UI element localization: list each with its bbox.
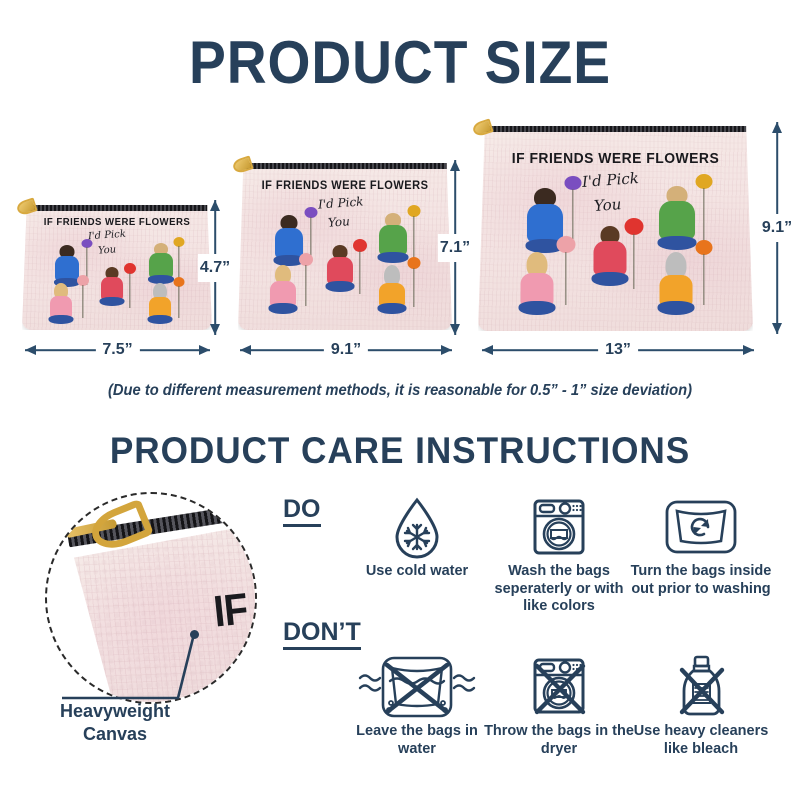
size-deviation-disclaimer: (Due to different measurement methods, i… (20, 382, 780, 400)
flower-stem (129, 273, 130, 308)
flower-stem (413, 268, 414, 307)
flower-sunflower (406, 205, 422, 263)
product-bag-large: IF FRIENDS WERE FLOWERS I'd Pick You (478, 126, 753, 331)
bag-headline-text: IF FRIENDS WERE FLOWERS (26, 217, 208, 228)
care-dont-heading: DON’T (283, 620, 361, 650)
care-do-heading: DO (283, 497, 321, 527)
figure-red (592, 226, 628, 290)
figure-shirt (379, 225, 407, 255)
figure-base (378, 303, 407, 314)
figure-base (592, 272, 629, 286)
figure-pink (519, 252, 555, 316)
fabric-label-line1: Heavyweight (40, 700, 190, 723)
flower-stem (703, 254, 704, 305)
turn-inside-out-icon (626, 495, 776, 559)
zipper-teeth (238, 163, 452, 169)
flower-head (696, 240, 713, 255)
figure-orange (148, 283, 172, 325)
dimension-height-label: 7.1” (438, 234, 472, 262)
zipper-teeth (22, 205, 212, 211)
product-bag-small: IF FRIENDS WERE FLOWERS I'd Pick You (22, 205, 212, 330)
flower-head (696, 174, 713, 189)
figure-base (519, 301, 556, 315)
arrowhead-top-icon (772, 122, 782, 133)
care-item-no-bleach: Use heavy cleaners like bleach (626, 655, 776, 758)
figure-green (378, 213, 408, 265)
page-title-product-size: PRODUCT SIZE (32, 28, 768, 97)
arrowhead-top-icon (210, 200, 220, 211)
flower-stem (82, 285, 83, 318)
figure-base (269, 303, 298, 314)
dimension-height-large: 9.1” (762, 122, 792, 334)
care-item-label: Turn the bags inside out prior to washin… (626, 563, 776, 598)
arrowhead-left-icon (25, 345, 36, 355)
zipper-teeth (478, 126, 753, 132)
care-item-cold-water: Use cold water (342, 495, 492, 581)
flower-head (565, 176, 582, 190)
dimension-height-small: 4.7” (200, 200, 230, 335)
arrowhead-top-icon (450, 160, 460, 171)
infographic-page: PRODUCT SIZE IF FRIENDS WERE FLOWERS I'd… (0, 0, 800, 800)
figure-base (658, 236, 697, 250)
flower-poppy (123, 263, 137, 309)
cold-water-icon (342, 495, 492, 559)
flower-poppy (624, 218, 644, 290)
flower-stem (178, 286, 179, 318)
care-item-turn-inside-out: Turn the bags inside out prior to washin… (626, 495, 776, 598)
bag-headline-text: IF FRIENDS WERE FLOWERS (242, 180, 447, 192)
dimension-width-label: 7.5” (95, 341, 139, 359)
flower-head (557, 236, 576, 253)
care-item-no-dryer: Throw the bags in the dryer (484, 655, 634, 758)
flower-stem (413, 216, 414, 262)
arrowhead-right-icon (743, 345, 754, 355)
figure-base (100, 297, 125, 306)
no-dryer-icon (484, 655, 634, 719)
arrowhead-bottom-icon (772, 323, 782, 334)
figure-base (49, 315, 74, 324)
figure-pink (49, 283, 73, 325)
flower-stem (633, 234, 634, 289)
figure-base (326, 281, 355, 292)
figure-pink (269, 265, 297, 315)
figure-red (100, 267, 124, 309)
fabric-detail-label: Heavyweight Canvas (40, 700, 190, 745)
flower-head (625, 218, 644, 235)
figure-base (658, 301, 695, 315)
figure-orange (658, 252, 694, 316)
callout-anchor-dot (190, 630, 199, 639)
flower-marigold (694, 240, 714, 308)
care-item-label: Leave the bags in water (342, 723, 492, 758)
section-title-care-instructions: PRODUCT CARE INSTRUCTIONS (20, 430, 780, 472)
washing-machine-icon (484, 495, 634, 559)
care-item-label: Use cold water (342, 563, 492, 581)
dimension-width-label: 9.1” (324, 341, 368, 359)
figure-shirt (594, 241, 627, 275)
figure-green (658, 186, 696, 252)
bag-canvas-body: IF FRIENDS WERE FLOWERS I'd Pick You (238, 163, 452, 330)
arrowhead-right-icon (199, 345, 210, 355)
dimension-height-medium: 7.1” (440, 160, 470, 335)
fabric-label-line2: Canvas (40, 723, 190, 746)
care-item-label: Throw the bags in the dryer (484, 723, 634, 758)
figure-shirt (659, 201, 695, 239)
care-item-label: Use heavy cleaners like bleach (626, 723, 776, 758)
product-bag-medium: IF FRIENDS WERE FLOWERS I'd Pick You (238, 163, 452, 330)
figure-red (326, 245, 354, 295)
figure-green (148, 243, 174, 287)
dimension-width-large: 13” (482, 341, 754, 359)
figure-shirt (327, 257, 353, 284)
flower-stem (565, 252, 566, 305)
bag-canvas-body: IF FRIENDS WERE FLOWERS I'd Pick You (22, 205, 212, 330)
figure-orange (378, 265, 406, 315)
arrowhead-bottom-icon (210, 324, 220, 335)
flower-marigold (406, 257, 422, 309)
dimension-width-medium: 9.1” (240, 341, 452, 359)
arrowhead-left-icon (482, 345, 493, 355)
flower-peony (298, 253, 314, 307)
no-bleach-icon (626, 655, 776, 719)
figure-base (378, 252, 409, 263)
care-item-wash-separately: Wash the bags seperaterly or with like c… (484, 495, 634, 616)
dimension-width-small: 7.5” (25, 341, 210, 359)
flower-stem (703, 188, 704, 247)
bag-headline-text: IF FRIENDS WERE FLOWERS (484, 151, 748, 167)
bag-script-line2: You (98, 244, 117, 256)
arrowhead-left-icon (240, 345, 251, 355)
arrowhead-right-icon (441, 345, 452, 355)
bag-canvas-body: IF FRIENDS WERE FLOWERS I'd Pick You (478, 126, 753, 331)
flower-stem (305, 265, 306, 306)
bag-script-line2: You (328, 214, 351, 229)
dimension-width-label: 13” (598, 341, 638, 359)
flower-peony (76, 275, 90, 319)
bag-script-line2: You (593, 195, 621, 215)
flower-sunflower (694, 174, 714, 248)
dimension-height-label: 9.1” (760, 214, 794, 242)
dimension-height-label: 4.7” (198, 254, 232, 282)
flower-poppy (352, 239, 368, 295)
care-item-no-soak: Leave the bags in water (342, 655, 492, 758)
arrowhead-bottom-icon (450, 324, 460, 335)
care-item-label: Wash the bags seperaterly or with like c… (484, 563, 634, 616)
flower-marigold (172, 277, 186, 319)
figure-base (148, 315, 173, 324)
no-soak-icon (342, 655, 492, 719)
flower-stem (359, 251, 360, 294)
flower-peony (556, 236, 576, 306)
